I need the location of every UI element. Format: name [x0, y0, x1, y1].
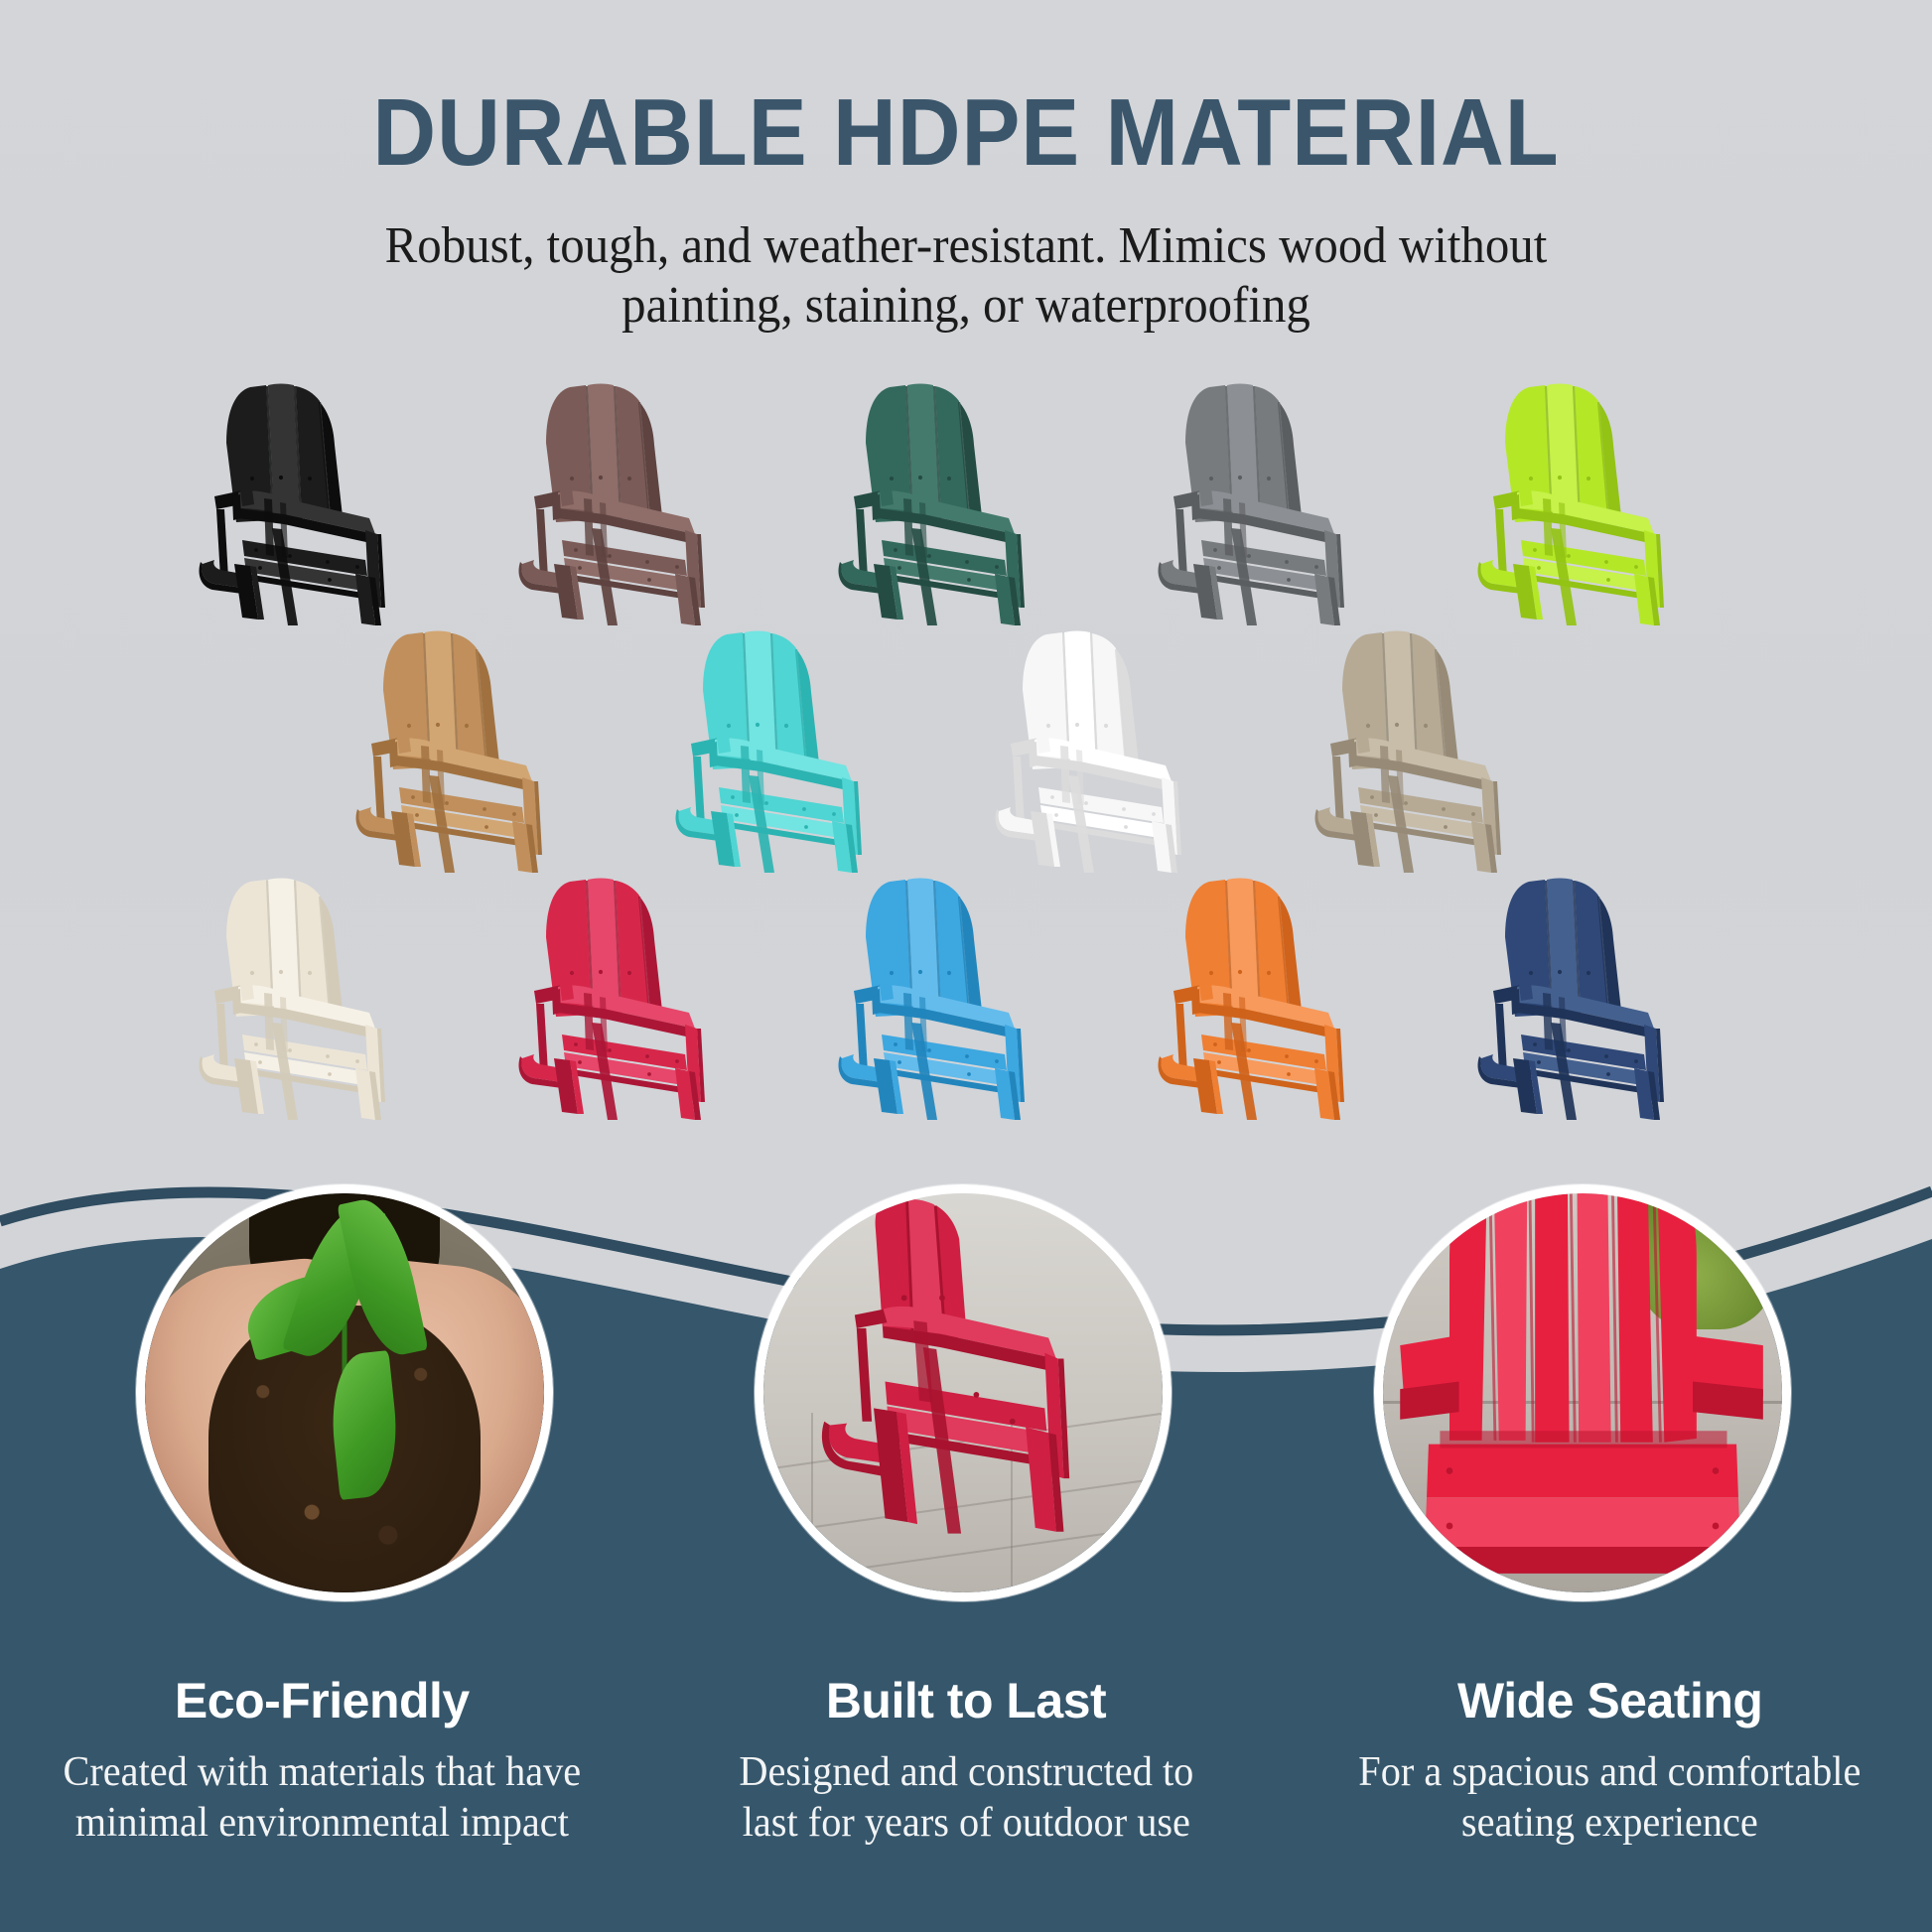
chair-black	[181, 369, 479, 632]
red-chair-seat-closeup	[1383, 1193, 1782, 1592]
hands-soil-seedling-image	[145, 1193, 544, 1592]
circle-seating-photo	[1374, 1184, 1791, 1601]
chair-swatch-white[interactable]	[977, 617, 1275, 880]
chair-red	[500, 864, 798, 1127]
feature-wide-seating: Wide Seating For a spacious and comforta…	[1288, 1634, 1932, 1932]
chair-row-1	[0, 369, 1932, 632]
chair-color-grid	[0, 369, 1932, 1127]
chair-swatch-teak[interactable]	[338, 617, 635, 880]
closeup-chair-shape	[1383, 1193, 1782, 1592]
feature-description: For a spacious and comfortable seating e…	[1325, 1747, 1894, 1849]
feature-photo-circles	[0, 1152, 1932, 1608]
feature-desc-line-2: last for years of outdoor use	[742, 1800, 1189, 1846]
chair-swatch-khaki[interactable]	[1297, 617, 1594, 880]
chair-swatch-brown[interactable]	[500, 369, 798, 632]
patio-chair-shape	[763, 1193, 1163, 1592]
feature-heading: Built to Last	[670, 1672, 1263, 1729]
feature-desc-line-1: Created with materials that have	[63, 1749, 581, 1795]
feature-desc-line-1: For a spacious and comfortable	[1359, 1749, 1862, 1795]
red-chair-patio-image	[763, 1193, 1163, 1592]
chair-lime-green	[1459, 369, 1757, 632]
chair-dark-green	[820, 369, 1118, 632]
chair-row-3	[0, 864, 1932, 1127]
chair-khaki	[1297, 617, 1594, 880]
page-title: DURABLE HDPE MATERIAL	[77, 0, 1855, 181]
page-subtitle: Robust, tough, and weather-resistant. Mi…	[58, 181, 1873, 337]
infographic-page: DURABLE HDPE MATERIAL Robust, tough, and…	[0, 0, 1932, 1932]
chair-swatch-gray[interactable]	[1140, 369, 1438, 632]
chair-swatch-navy[interactable]	[1459, 864, 1757, 1127]
chair-blue	[820, 864, 1118, 1127]
red-chair-silhouette	[763, 1193, 1163, 1592]
feature-description: Created with materials that have minimal…	[38, 1747, 607, 1849]
feature-desc-line-1: Designed and constructed to	[739, 1749, 1193, 1795]
chair-ivory	[181, 864, 479, 1127]
circle-durability-photo	[755, 1184, 1172, 1601]
chair-brown	[500, 369, 798, 632]
feature-heading: Wide Seating	[1313, 1672, 1906, 1729]
feature-built-to-last: Built to Last Designed and constructed t…	[644, 1634, 1289, 1932]
feature-eco-friendly: Eco-Friendly Created with materials that…	[0, 1634, 644, 1932]
chair-swatch-orange[interactable]	[1140, 864, 1438, 1127]
chair-teak	[338, 617, 635, 880]
feature-desc-line-2: minimal environmental impact	[75, 1800, 569, 1846]
chair-swatch-turquoise[interactable]	[657, 617, 955, 880]
chair-swatch-lime-green[interactable]	[1459, 369, 1757, 632]
chair-swatch-dark-green[interactable]	[820, 369, 1118, 632]
subtitle-line-1: Robust, tough, and weather-resistant. Mi…	[58, 216, 1873, 276]
chair-turquoise	[657, 617, 955, 880]
chair-swatch-black[interactable]	[181, 369, 479, 632]
chair-gray	[1140, 369, 1438, 632]
chair-navy	[1459, 864, 1757, 1127]
feature-heading: Eco-Friendly	[26, 1672, 619, 1729]
chair-row-2	[0, 617, 1932, 880]
chair-white	[977, 617, 1275, 880]
chair-swatch-ivory[interactable]	[181, 864, 479, 1127]
circle-eco-photo	[136, 1184, 553, 1601]
chair-swatch-red[interactable]	[500, 864, 798, 1127]
subtitle-line-2: painting, staining, or waterproofing	[58, 276, 1873, 336]
features-row: Eco-Friendly Created with materials that…	[0, 1634, 1932, 1932]
feature-description: Designed and constructed to last for yea…	[682, 1747, 1251, 1849]
chair-orange	[1140, 864, 1438, 1127]
chair-swatch-blue[interactable]	[820, 864, 1118, 1127]
header: DURABLE HDPE MATERIAL Robust, tough, and…	[0, 0, 1932, 337]
red-chair-closeup-image	[1383, 1193, 1782, 1592]
feature-desc-line-2: seating experience	[1461, 1800, 1758, 1846]
